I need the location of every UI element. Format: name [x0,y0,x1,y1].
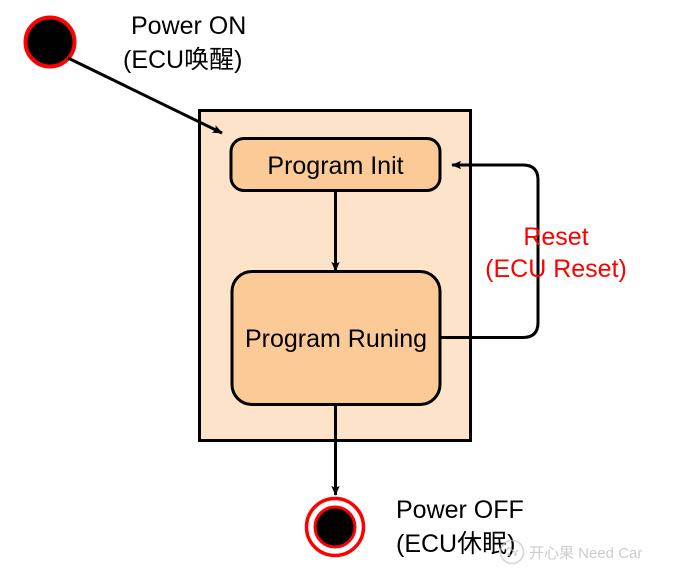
final-node-end[interactable] [315,507,355,547]
state-program-running-label: Program Runing [245,325,427,353]
state-program-init[interactable]: Program Init [231,139,440,191]
initial-node-group[interactable] [26,18,75,67]
watermark-group: 开心果 Need Car [501,541,643,564]
final-node-group[interactable] [307,499,364,556]
power-off-label-line1: Power OFF [396,496,524,524]
state-program-init-label: Program Init [267,152,403,180]
power-off-label-line2: (ECU休眠) [396,530,515,558]
power-on-label-line2: (ECU唤醒) [123,46,242,74]
watermark-label: 开心果 Need Car [529,545,642,562]
state-program-running[interactable]: Program Runing [232,272,440,405]
initial-node-start[interactable] [26,18,75,67]
power-on-label-line1: Power ON [131,12,246,40]
reset-label-line1: Reset [523,223,588,251]
state-machine-diagram: Power ON (ECU唤醒) Program Init Program Ru… [0,0,677,581]
reset-label-line2: (ECU Reset) [485,255,627,283]
